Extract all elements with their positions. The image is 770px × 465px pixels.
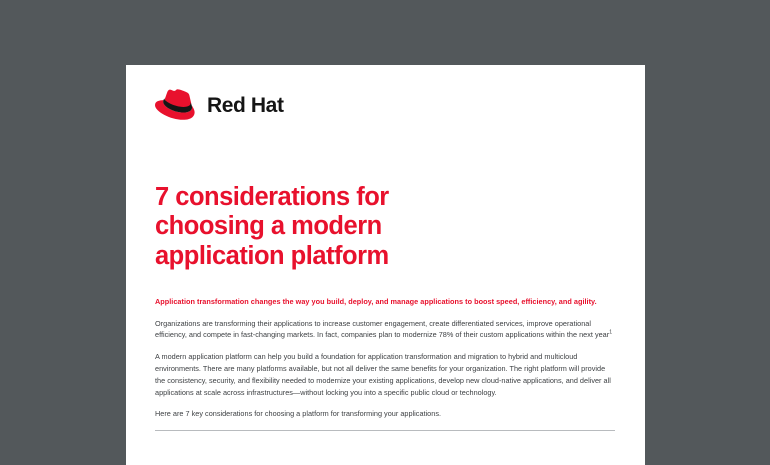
lede-paragraph: Application transformation changes the w… [155, 297, 617, 308]
headline-line-1: 7 considerations for [155, 183, 455, 212]
footnote-marker: 1 [609, 330, 612, 336]
body-copy: Application transformation changes the w… [155, 297, 617, 420]
red-hat-wordmark: Red Hat [207, 95, 284, 116]
headline-line-3: application platform [155, 242, 455, 271]
body-paragraph-2: A modern application platform can help y… [155, 351, 617, 398]
red-hat-logo: Red Hat [155, 88, 284, 122]
footnote-divider [155, 430, 615, 431]
document-page: Red Hat 7 considerations for choosing a … [126, 65, 645, 465]
headline-line-2: choosing a modern [155, 212, 455, 241]
page-title: 7 considerations for choosing a modern a… [155, 183, 455, 271]
body-paragraph-1-text: Organizations are transforming their app… [155, 319, 609, 340]
red-hat-fedora-icon [155, 89, 201, 121]
page-content-area: Red Hat 7 considerations for choosing a … [155, 65, 617, 465]
document-viewer[interactable]: Red Hat 7 considerations for choosing a … [0, 0, 770, 440]
body-paragraph-3: Here are 7 key considerations for choosi… [155, 408, 617, 420]
body-paragraph-1: Organizations are transforming their app… [155, 318, 617, 342]
